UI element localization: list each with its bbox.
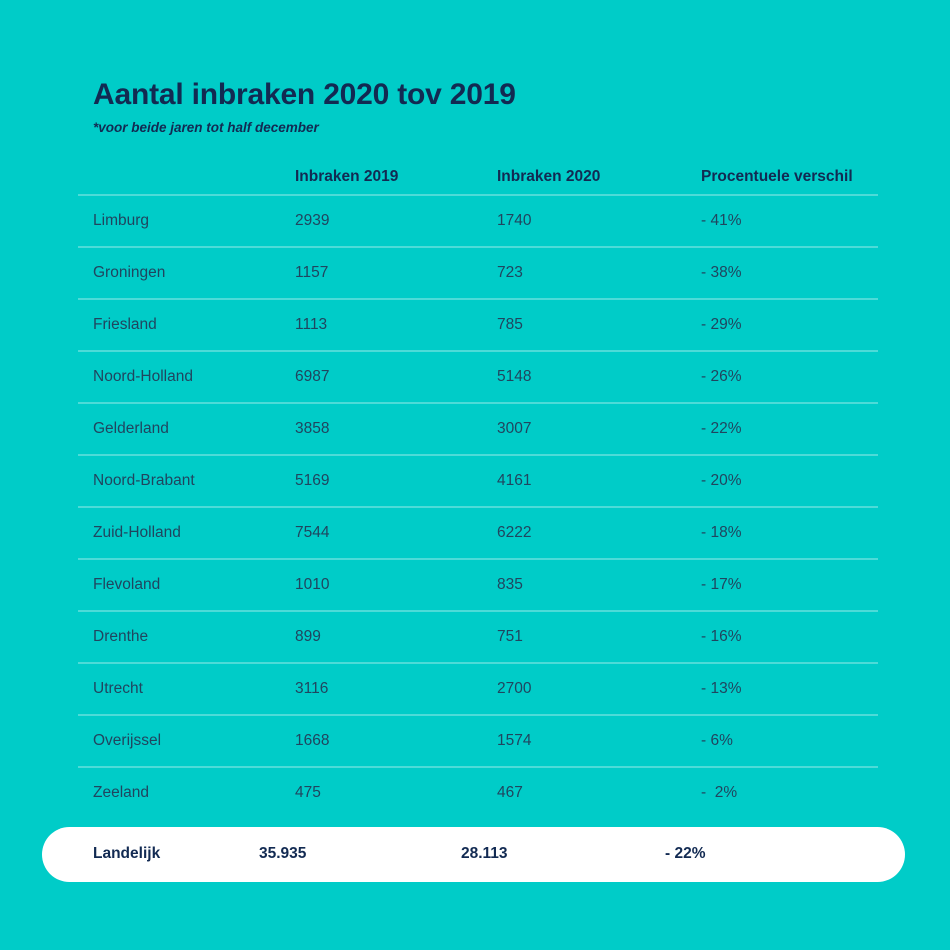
cell-inbraken-2020: 6222: [480, 524, 682, 543]
cell-inbraken-2020: 2700: [480, 680, 682, 699]
cell-region: Noord-Holland: [78, 368, 279, 387]
column-header-procentuele-verschil: Procentuele verschil: [682, 168, 878, 187]
cell-inbraken-2019: 1010: [279, 576, 480, 595]
cell-inbraken-2020: 835: [480, 576, 682, 595]
cell-inbraken-2019: 3858: [279, 420, 480, 439]
cell-region: Limburg: [78, 212, 279, 231]
cell-region: Zeeland: [78, 784, 279, 803]
table-row: Gelderland 3858 3007 - 22%: [78, 402, 878, 454]
cell-total-inbraken-2020: 28.113: [444, 845, 646, 864]
cell-inbraken-2020: 4161: [480, 472, 682, 491]
cell-inbraken-2020: 785: [480, 316, 682, 335]
table-row: Groningen 1157 723 - 38%: [78, 246, 878, 298]
cell-region: Friesland: [78, 316, 279, 335]
table-row: Flevoland 1010 835 - 17%: [78, 558, 878, 610]
cell-procentuele-verschil: - 13%: [682, 680, 878, 699]
cell-procentuele-verschil: - 29%: [682, 316, 878, 335]
cell-inbraken-2019: 7544: [279, 524, 480, 543]
column-header-inbraken-2019: Inbraken 2019: [279, 168, 480, 187]
heading-block: Aantal inbraken 2020 tov 2019 *voor beid…: [93, 78, 893, 136]
cell-region: Overijssel: [78, 732, 279, 751]
cell-inbraken-2019: 2939: [279, 212, 480, 231]
cell-procentuele-verschil: - 2%: [682, 784, 878, 803]
cell-inbraken-2019: 3116: [279, 680, 480, 699]
infographic-page: Aantal inbraken 2020 tov 2019 *voor beid…: [0, 0, 950, 950]
cell-total-inbraken-2019: 35.935: [243, 845, 444, 864]
cell-procentuele-verschil: - 17%: [682, 576, 878, 595]
cell-procentuele-verschil: - 26%: [682, 368, 878, 387]
table-row: Drenthe 899 751 - 16%: [78, 610, 878, 662]
cell-region: Utrecht: [78, 680, 279, 699]
cell-inbraken-2020: 723: [480, 264, 682, 283]
table-row: Limburg 2939 1740 - 41%: [78, 194, 878, 246]
table-row: Zuid-Holland 7544 6222 - 18%: [78, 506, 878, 558]
cell-inbraken-2019: 475: [279, 784, 480, 803]
cell-region: Noord-Brabant: [78, 472, 279, 491]
burglary-statistics-table: Inbraken 2019 Inbraken 2020 Procentuele …: [78, 160, 878, 818]
cell-procentuele-verschil: - 20%: [682, 472, 878, 491]
cell-total-procentuele-verschil: - 22%: [646, 845, 842, 864]
cell-inbraken-2020: 5148: [480, 368, 682, 387]
total-row-landelijk: Landelijk 35.935 28.113 - 22%: [42, 827, 905, 882]
cell-inbraken-2020: 1740: [480, 212, 682, 231]
cell-inbraken-2019: 1157: [279, 264, 480, 283]
cell-region: Drenthe: [78, 628, 279, 647]
cell-inbraken-2019: 899: [279, 628, 480, 647]
table-row: Zeeland 475 467 - 2%: [78, 766, 878, 818]
cell-inbraken-2020: 1574: [480, 732, 682, 751]
table-header-row: Inbraken 2019 Inbraken 2020 Procentuele …: [78, 160, 878, 194]
cell-region: Flevoland: [78, 576, 279, 595]
table-row: Friesland 1113 785 - 29%: [78, 298, 878, 350]
cell-inbraken-2019: 1668: [279, 732, 480, 751]
column-header-inbraken-2020: Inbraken 2020: [480, 168, 682, 187]
cell-procentuele-verschil: - 41%: [682, 212, 878, 231]
page-title: Aantal inbraken 2020 tov 2019: [93, 78, 893, 111]
cell-procentuele-verschil: - 6%: [682, 732, 878, 751]
cell-procentuele-verschil: - 16%: [682, 628, 878, 647]
cell-region: Groningen: [78, 264, 279, 283]
cell-inbraken-2019: 6987: [279, 368, 480, 387]
cell-total-label: Landelijk: [42, 845, 243, 864]
cell-inbraken-2019: 1113: [279, 316, 480, 335]
cell-inbraken-2020: 751: [480, 628, 682, 647]
cell-procentuele-verschil: - 22%: [682, 420, 878, 439]
table-row: Overijssel 1668 1574 - 6%: [78, 714, 878, 766]
cell-procentuele-verschil: - 18%: [682, 524, 878, 543]
cell-region: Zuid-Holland: [78, 524, 279, 543]
table-row: Utrecht 3116 2700 - 13%: [78, 662, 878, 714]
cell-procentuele-verschil: - 38%: [682, 264, 878, 283]
cell-inbraken-2020: 3007: [480, 420, 682, 439]
cell-inbraken-2020: 467: [480, 784, 682, 803]
cell-inbraken-2019: 5169: [279, 472, 480, 491]
cell-region: Gelderland: [78, 420, 279, 439]
page-subtitle: *voor beide jaren tot half december: [93, 121, 893, 136]
table-row: Noord-Brabant 5169 4161 - 20%: [78, 454, 878, 506]
table-row: Noord-Holland 6987 5148 - 26%: [78, 350, 878, 402]
